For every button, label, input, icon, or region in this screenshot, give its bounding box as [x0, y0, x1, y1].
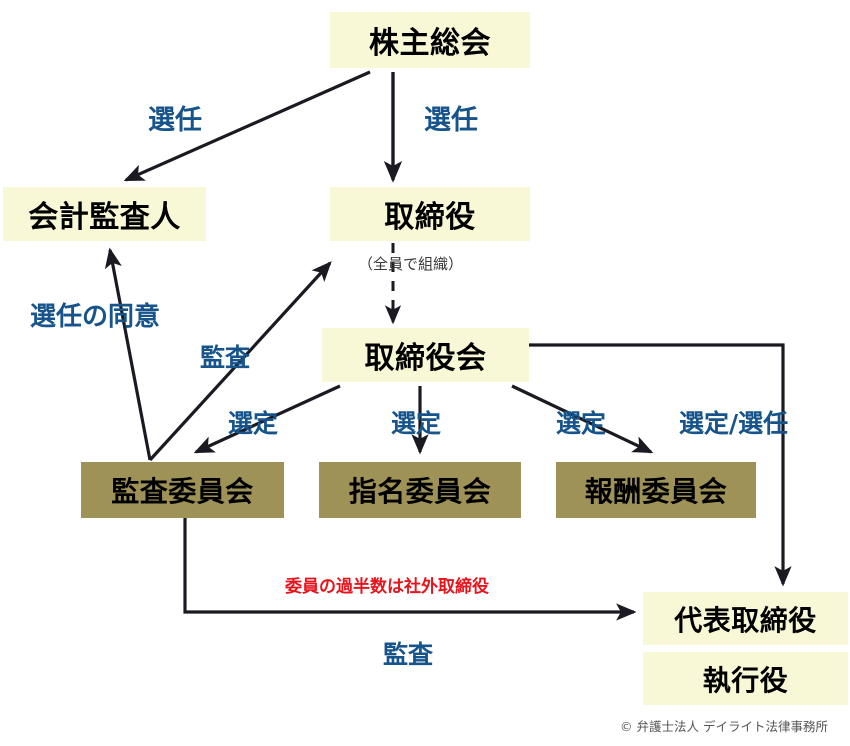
edge-label-select-nomination-committee: 選定 [391, 404, 441, 440]
edge-audit-committee-to-accounting-auditor [110, 250, 150, 460]
edge-label-select-audit-committee: 選定 [228, 404, 278, 440]
governance-diagram: 株主総会 会計監査人 取締役 取締役会 監査委員会 指名委員会 報酬委員会 代表… [0, 0, 850, 746]
node-label: 執行役 [703, 659, 789, 699]
node-label: 監査委員会 [111, 470, 254, 510]
edge-audit-committee-to-executive [185, 518, 634, 612]
node-representative-director[interactable]: 代表取締役 [643, 592, 848, 645]
node-label: 代表取締役 [674, 599, 817, 639]
edge-label-select-or-appoint-executive: 選定/選任 [679, 404, 788, 440]
node-board-of-directors[interactable]: 取締役会 [322, 328, 529, 382]
annotation-majority-outside-directors: 委員の過半数は社外取締役 [285, 572, 489, 597]
edge-label-audit-of-executive: 監査 [383, 635, 433, 671]
node-label: 株主総会 [369, 18, 491, 62]
edge-label-appoint-director: 選任 [424, 98, 478, 137]
node-nomination-committee[interactable]: 指名委員会 [319, 462, 521, 518]
node-executive-officer[interactable]: 執行役 [643, 652, 848, 705]
node-shareholders-meeting[interactable]: 株主総会 [330, 12, 530, 68]
node-label: 取締役会 [365, 333, 487, 377]
copyright-credit: © 弁護士法人 デイライト法律事務所 [620, 716, 828, 735]
annotation-organized-by-all: （全員で組織） [358, 253, 463, 274]
edge-label-appoint-auditor: 選任 [148, 98, 202, 137]
node-accounting-auditor[interactable]: 会計監査人 [3, 187, 206, 241]
node-compensation-committee[interactable]: 報酬委員会 [556, 462, 756, 518]
edge-label-consent-to-appointment: 選任の同意 [30, 296, 160, 333]
node-label: 指名委員会 [349, 470, 492, 510]
edge-label-select-compensation-committee: 選定 [556, 404, 606, 440]
node-director[interactable]: 取締役 [330, 187, 530, 241]
node-audit-committee[interactable]: 監査委員会 [81, 462, 284, 518]
node-label: 取締役 [384, 192, 476, 236]
edge-label-audit-of-director: 監査 [200, 338, 250, 374]
node-label: 会計監査人 [28, 192, 181, 236]
node-label: 報酬委員会 [585, 470, 728, 510]
